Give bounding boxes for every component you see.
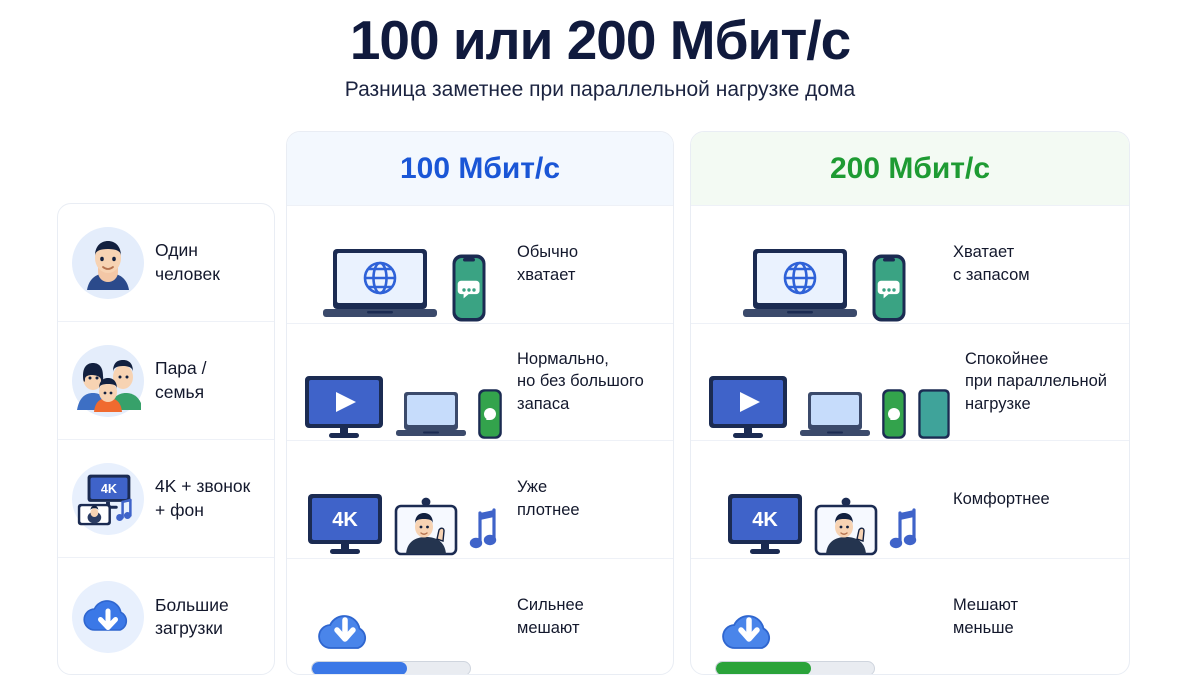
video-call-icon (394, 496, 458, 558)
phone-green-icon (881, 388, 907, 440)
icon-group: 4K (707, 441, 939, 558)
cell-200-family: Спокойнее при параллельной нагрузке (691, 324, 1129, 442)
page-title: 100 или 200 Мбит/с (0, 8, 1200, 72)
phone-chat-icon (451, 253, 487, 323)
cell-100-4k: 4K (287, 441, 673, 559)
cell-text: Хватает с запасом (939, 241, 1115, 287)
progress-bar-fill (716, 662, 811, 675)
tv-4k-call-music-icon: 4K (72, 463, 144, 535)
scenario-sidebar: Один человек (57, 203, 275, 675)
cloud-download-icon (715, 600, 787, 652)
cell-200-downloads: Мешают меньше (691, 559, 1129, 676)
icon-group (303, 206, 503, 323)
cell-200-4k: 4K (691, 441, 1129, 559)
phone-chat-icon (871, 253, 907, 323)
laptop-globe-icon (319, 245, 441, 323)
scenario-row-single: Один человек (58, 204, 274, 322)
tv-4k-icon: 4K (726, 492, 804, 558)
scenario-label: Один человек (155, 239, 220, 285)
scenario-label: Пара / семья (155, 357, 207, 403)
tablet-teal-icon (917, 388, 951, 440)
cell-200-single: Хватает с запасом (691, 206, 1129, 324)
column-200: 200 Мбит/с (690, 131, 1130, 675)
scenario-label: Большие загрузки (155, 594, 229, 640)
phone-green-icon (477, 388, 503, 440)
cell-text: Комфортнее (939, 488, 1115, 511)
person-avatar-icon (72, 227, 144, 299)
laptop-icon (395, 390, 467, 440)
music-note-icon (888, 508, 920, 558)
progress-bar (311, 661, 471, 675)
icon-group (707, 324, 951, 441)
cell-text: Уже плотнее (503, 476, 659, 522)
page-subtitle: Разница заметнее при параллельной нагруз… (0, 78, 1200, 102)
cloud-download-icon (311, 600, 383, 652)
tv-4k-icon: 4K (306, 492, 384, 558)
laptop-globe-icon (739, 245, 861, 323)
column-100: 100 Мбит/с (286, 131, 674, 675)
svg-text:4K: 4K (332, 509, 358, 531)
music-note-icon (468, 508, 500, 558)
cell-100-downloads: Сильнее мешают (287, 559, 673, 676)
icon-group (707, 206, 939, 323)
cell-100-family: Нормально, но без большого запаса (287, 324, 673, 442)
cell-text: Обычно хватает (503, 241, 659, 287)
cell-text: Нормально, но без большого запаса (503, 348, 659, 416)
icon-group: 4K (303, 441, 503, 558)
svg-text:4K: 4K (752, 509, 778, 531)
cell-100-single: Обычно хватает (287, 206, 673, 324)
tv-play-icon (303, 374, 385, 440)
scenario-label: 4K + звонок + фон (155, 475, 250, 521)
icon-group (707, 559, 939, 676)
scenario-row-downloads: Большие загрузки (58, 558, 274, 676)
cell-text: Спокойнее при параллельной нагрузке (951, 348, 1115, 416)
cloud-download-icon (72, 581, 144, 653)
family-avatar-icon (72, 345, 144, 417)
video-call-icon (814, 496, 878, 558)
scenario-row-family: Пара / семья (58, 322, 274, 440)
column-200-header: 200 Мбит/с (691, 132, 1129, 206)
progress-bar (715, 661, 875, 675)
icon-group (303, 559, 503, 676)
svg-text:4K: 4K (101, 482, 117, 496)
infographic-root: 100 или 200 Мбит/с Разница заметнее при … (0, 0, 1200, 694)
progress-bar-fill (312, 662, 407, 675)
cell-text: Мешают меньше (939, 594, 1115, 640)
column-100-header: 100 Мбит/с (287, 132, 673, 206)
tv-play-icon (707, 374, 789, 440)
scenario-row-4k: 4K 4K + звонок + фон (58, 440, 274, 558)
laptop-icon (799, 390, 871, 440)
icon-group (303, 324, 503, 441)
cell-text: Сильнее мешают (503, 594, 659, 640)
